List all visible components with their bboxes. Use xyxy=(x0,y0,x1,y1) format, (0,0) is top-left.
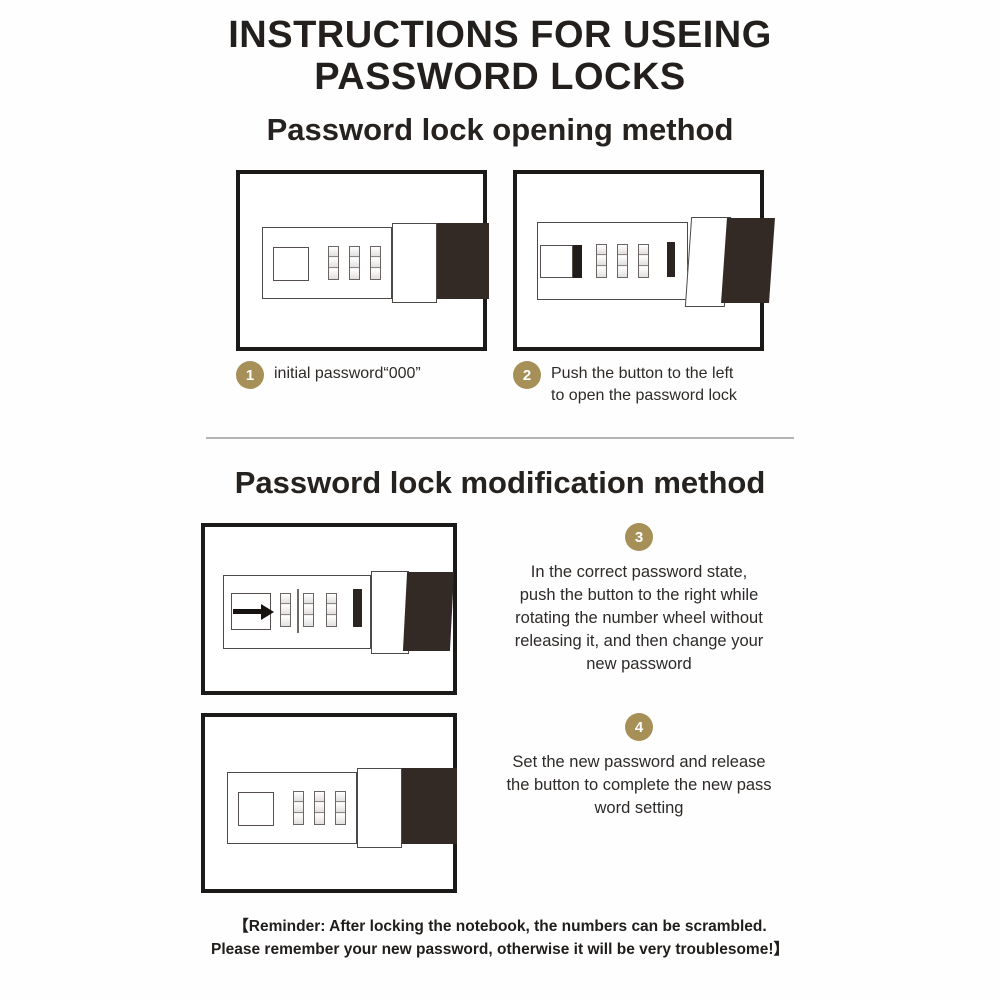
opening-caption-row: 1 initial password“000” 2 Push the butto… xyxy=(0,361,1000,407)
page-title-line2: PASSWORD LOCKS xyxy=(0,56,1000,98)
step-3-line-3: rotating the number wheel without xyxy=(479,607,799,630)
number-wheel-icon xyxy=(280,593,291,627)
instruction-sheet: INSTRUCTIONS FOR USEING PASSWORD LOCKS P… xyxy=(0,0,1000,1000)
slider-button-icon xyxy=(273,247,309,281)
step-1-caption: 1 initial password“000” xyxy=(236,361,487,407)
diagram-lock-closed-new-password xyxy=(201,713,457,893)
number-wheel-icon xyxy=(314,791,325,825)
step-4-caption: 4 Set the new password and release the b… xyxy=(479,713,799,820)
lock-latch-plate xyxy=(357,768,402,848)
number-wheel-icon xyxy=(349,246,360,280)
page-title-line1: INSTRUCTIONS FOR USEING xyxy=(0,14,1000,56)
lock-dark-block xyxy=(437,223,489,299)
step-3-text: In the correct password state, push the … xyxy=(479,561,799,676)
number-wheel-icon xyxy=(328,246,339,280)
step-1-line-1: initial password“000” xyxy=(274,363,421,385)
step-4-line-1: Set the new password and release xyxy=(479,751,799,774)
step-3-line-1: In the correct password state, xyxy=(479,561,799,584)
number-wheel-icon xyxy=(293,791,304,825)
section-heading-modification: Password lock modification method xyxy=(0,465,1000,501)
slider-button-icon xyxy=(540,245,573,278)
step-4-text: Set the new password and release the but… xyxy=(479,751,799,820)
arrow-right-icon xyxy=(233,603,275,621)
slider-button-icon xyxy=(238,792,274,826)
page-title: INSTRUCTIONS FOR USEING PASSWORD LOCKS xyxy=(0,0,1000,98)
diagram-lock-push-right-rotate xyxy=(201,523,457,695)
step-4-line-3: word setting xyxy=(479,797,799,820)
step-2-caption: 2 Push the button to the left to open th… xyxy=(513,361,764,407)
diagram-lock-closed-initial xyxy=(236,170,487,351)
step-badge-3: 3 xyxy=(625,523,653,551)
diagram-lock-open xyxy=(513,170,764,351)
step-3-caption: 3 In the correct password state, push th… xyxy=(479,523,799,676)
step-3-line-2: push the button to the right while xyxy=(479,584,799,607)
lock-dark-block xyxy=(721,218,775,303)
slider-button-shadow xyxy=(573,245,582,278)
step-3-line-5: new password xyxy=(479,653,799,676)
step-4-line-2: the button to complete the new pass xyxy=(479,774,799,797)
step-3-line-4: releasing it, and then change your xyxy=(479,630,799,653)
number-wheel-icon xyxy=(326,593,337,627)
number-wheel-icon xyxy=(370,246,381,280)
step-badge-1: 1 xyxy=(236,361,264,389)
step-badge-4: 4 xyxy=(625,713,653,741)
section-heading-opening: Password lock opening method xyxy=(0,112,1000,148)
number-wheel-icon xyxy=(303,593,314,627)
number-wheel-icon xyxy=(638,244,649,278)
step-1-text: initial password“000” xyxy=(274,361,421,385)
rotation-marker-icon xyxy=(297,589,299,633)
lock-dark-block xyxy=(403,572,454,651)
section-divider xyxy=(206,437,794,439)
step-badge-2: 2 xyxy=(513,361,541,389)
modification-step-4-row: 4 Set the new password and release the b… xyxy=(0,713,1000,893)
opening-diagram-row xyxy=(0,170,1000,351)
lock-dark-block xyxy=(402,768,457,844)
number-wheel-icon xyxy=(596,244,607,278)
number-wheel-icon xyxy=(335,791,346,825)
open-gap-bar xyxy=(667,242,675,277)
number-wheel-icon xyxy=(617,244,628,278)
reminder-note: 【Reminder: After locking the notebook, t… xyxy=(0,915,1000,961)
lock-latch-plate xyxy=(392,223,437,303)
step-2-text: Push the button to the left to open the … xyxy=(551,361,737,407)
modification-step-3-row: 3 In the correct password state, push th… xyxy=(0,523,1000,695)
step-2-line-1: Push the button to the left xyxy=(551,363,737,385)
open-gap-bar xyxy=(353,589,362,627)
step-2-line-2: to open the password lock xyxy=(551,385,737,407)
reminder-line-1: 【Reminder: After locking the notebook, t… xyxy=(100,915,900,938)
reminder-line-2: Please remember your new password, other… xyxy=(100,938,900,961)
